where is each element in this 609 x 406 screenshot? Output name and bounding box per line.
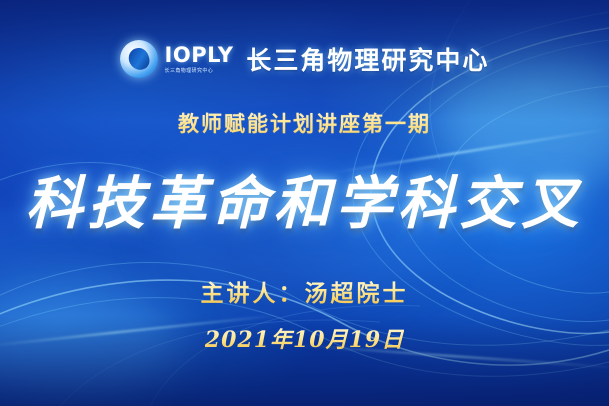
organization-name: 长三角物理研究中心	[246, 41, 489, 77]
logo-text-main: IOPLY	[165, 45, 234, 66]
poster-content: IOPLY 长三角物理研究中心 长三角物理研究中心 教师赋能计划讲座第一期 科技…	[0, 0, 609, 406]
lecture-series-title: 教师赋能计划讲座第一期	[178, 108, 431, 138]
institute-logo-icon	[120, 40, 158, 78]
speaker-line: 主讲人：汤超院士	[201, 274, 409, 308]
lecture-main-title: 科技革命和学科交叉	[26, 158, 584, 240]
poster-image: IOPLY 长三角物理研究中心 长三角物理研究中心 教师赋能计划讲座第一期 科技…	[0, 0, 609, 406]
event-date: 2021年10月19日	[205, 322, 404, 354]
brand-header: IOPLY 长三角物理研究中心 长三角物理研究中心	[120, 40, 490, 78]
logo-text-sub: 长三角物理研究中心	[165, 69, 234, 74]
logo-wordmark: IOPLY 长三角物理研究中心	[165, 45, 234, 74]
